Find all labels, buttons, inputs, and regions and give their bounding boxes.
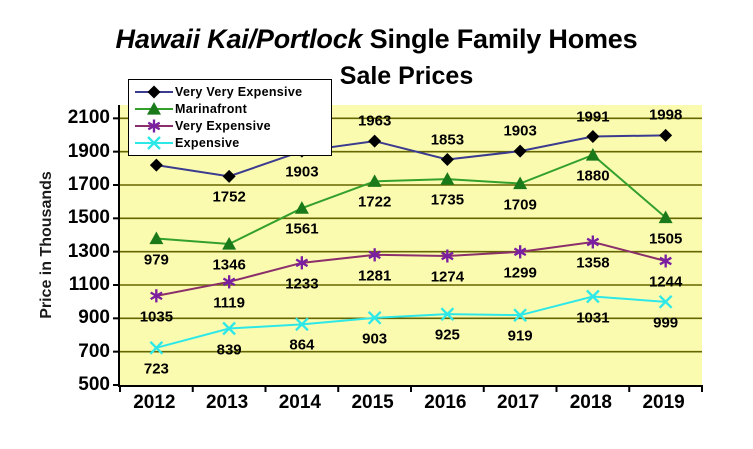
legend-item-very-very-expensive[interactable]: Very Very Expensive [133, 83, 327, 100]
chart-title-emphasis: Hawaii Kai/Portlock [116, 24, 363, 54]
data-point-marker [586, 148, 600, 161]
legend-item-label: Very Expensive [175, 119, 271, 133]
x-axis-tick-label: 2019 [624, 392, 704, 414]
x-axis-tick-labels: 20122013201420152016201720182019 [118, 392, 700, 422]
y-axis-tick-label: 1900 [30, 141, 110, 163]
data-point-marker [659, 129, 672, 142]
chart-subtitle: Sale Prices [0, 62, 753, 91]
x-axis-tick-label: 2017 [478, 392, 558, 414]
series-line [156, 242, 665, 296]
x-axis-tick-label: 2013 [187, 392, 267, 414]
y-axis-tick-label: 700 [30, 341, 110, 363]
x-axis-tick-label: 2018 [551, 392, 631, 414]
legend-item-expensive[interactable]: Expensive [133, 134, 327, 151]
y-axis-tick-label: 1500 [30, 207, 110, 229]
data-point-marker [223, 170, 236, 183]
chart-container: Hawaii Kai/Portlock Single Family Homes … [0, 0, 753, 449]
x-axis-tick-label: 2012 [114, 392, 194, 414]
triangle-marker-icon [133, 101, 175, 117]
y-axis-tick-label: 1700 [30, 174, 110, 196]
data-point-marker [514, 145, 527, 158]
y-axis-tick-label: 1300 [30, 241, 110, 263]
series-line [156, 297, 665, 348]
legend-item-marinafront[interactable]: Marinafront [133, 100, 327, 117]
series-line [156, 155, 665, 244]
data-point-marker [586, 130, 599, 143]
asterisk-marker-icon [133, 118, 175, 134]
y-axis-tick-label: 500 [30, 374, 110, 396]
chart-title-line1: Hawaii Kai/Portlock Single Family Homes [0, 24, 753, 55]
data-point-marker [148, 85, 161, 98]
y-axis-tick-label: 1100 [30, 274, 110, 296]
legend-item-label: Expensive [175, 136, 240, 150]
data-point-marker [150, 159, 163, 172]
y-axis-tick-labels: 500700900110013001500170019002100 [20, 105, 110, 385]
data-point-marker [441, 153, 454, 166]
legend-item-very-expensive[interactable]: Very Expensive [133, 117, 327, 134]
legend-item-label: Marinafront [175, 102, 247, 116]
x-marker-icon [133, 135, 175, 151]
x-axis-tick-label: 2016 [405, 392, 485, 414]
x-axis-tick-label: 2015 [333, 392, 413, 414]
chart-title-plain: Single Family Homes [370, 24, 638, 54]
data-point-marker [149, 232, 163, 245]
chart-legend: Very Very ExpensiveMarinafrontVery Expen… [128, 79, 332, 156]
data-point-marker [368, 135, 381, 148]
legend-item-label: Very Very Expensive [175, 85, 302, 99]
data-point-marker [295, 201, 309, 214]
x-axis-tick-label: 2014 [260, 392, 340, 414]
y-axis-tick-label: 900 [30, 307, 110, 329]
y-axis-tick-label: 2100 [30, 107, 110, 129]
diamond-marker-icon [133, 84, 175, 100]
